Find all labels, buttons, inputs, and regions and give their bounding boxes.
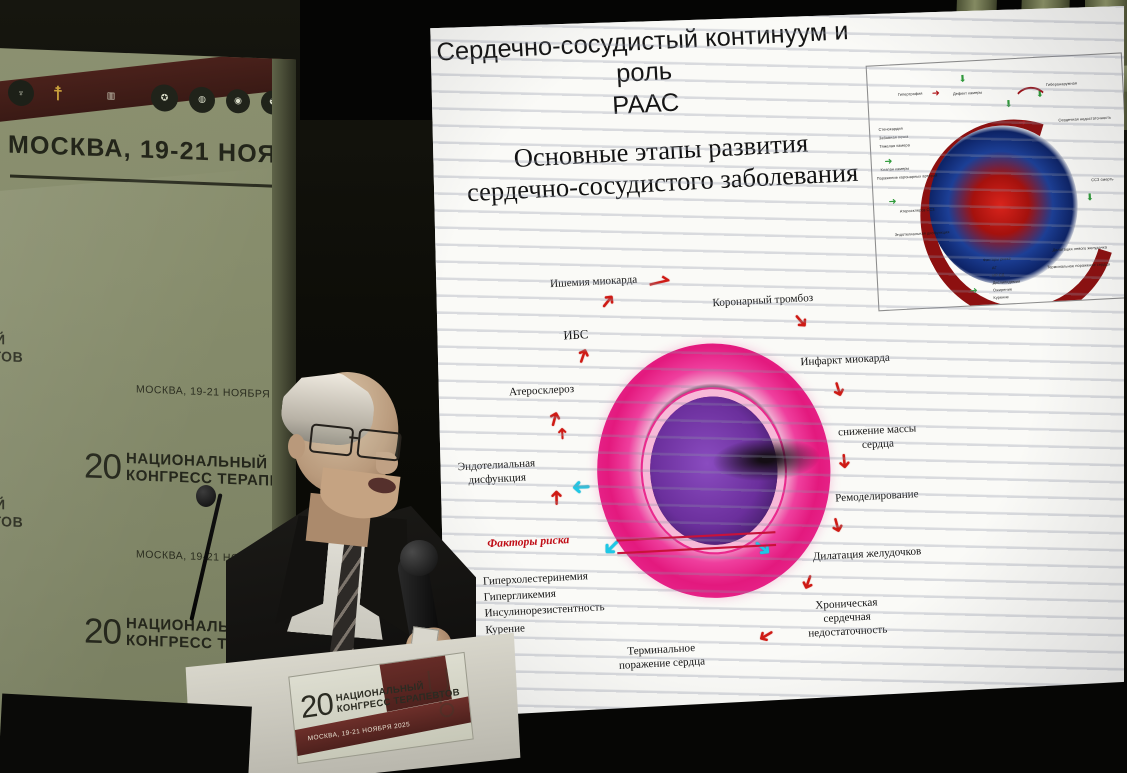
conference-photo-scene: ♆ ☨ ▥ ✪ ◍ ◉ ☯ МОСКВА, 19-21 НОЯБРЯ 2025 … [0,0,1127,773]
inset-green-arrow-6: ➜ [970,286,978,296]
inset-label-11: АГ [992,266,997,271]
vessel-lumen [646,393,781,548]
inset-label-12: ИР СД [992,273,1004,279]
label-chronic-heart-failure: Хроническаясердечнаянедостаточность [807,595,888,641]
gooseneck-microphone-head [196,485,216,507]
slide-surface: Сердечно-сосудистый континуум и роль РАА… [424,6,1124,748]
backdrop-city-date: МОСКВА, 19-21 НОЯБРЯ 2025 [8,130,296,174]
red-arrow-dilatation: ➜ [795,571,820,594]
inset-label-16: Сердечная недостаточность [1058,116,1111,124]
inset-green-arrow-5: ➜ [888,197,896,207]
red-arrow-ibs: ➜ [571,345,596,368]
inset-label-5: Тяжелая камера [879,143,910,150]
foreground-dark-area [0,694,252,773]
rnmot-logo: ♆ [8,79,34,106]
label-chronic-heart-failure-l1: Хроническая [815,597,878,612]
label-coronary-thrombosis: Коронарный тромбоз [712,291,813,310]
society-shield-logo: ✪ [151,84,178,112]
red-arrow-terminal: ➜ [753,622,778,648]
inset-green-arrow-4: ➜ [884,157,892,167]
risk-factor-0: Гиперхолестеринемия [483,571,589,588]
inset-label-14: Ожирение [993,287,1012,293]
label-myocardial-infarction: Инфаркт миокарда [800,351,890,370]
emblem-logo: ◉ [226,88,250,113]
inset-label-2: Гиберонаружная [1046,81,1077,88]
inset-green-arrow-7: ⬇ [1086,193,1094,203]
label-terminal-heart-damage: Терминальноепоражение сердца [618,641,705,673]
red-arrow-ishemia: ➜ [595,289,621,315]
slide-title-line2: РААС [612,88,680,120]
moscow-building-logo: ▥ [82,84,140,108]
label-chronic-heart-failure-l2: сердечная [823,611,871,625]
label-terminal-heart-damage-l2: поражение сердца [619,656,706,672]
vessel-lumen-shadow [712,436,820,484]
globe-logo: ◍ [189,86,215,113]
vessel-cross-section-image [591,338,837,604]
inset-label-0: Гипертрофия [898,91,923,97]
speaker-ear [288,434,305,459]
russia-coat-of-arms-logo: ☨ [45,80,71,107]
label-remodeling: Ремоделирование [835,488,919,506]
inset-label-4: Забовная почка [879,135,909,142]
inset-top-curve-arrow: ⌒ [1016,79,1046,120]
risk-factors-heading: Факторы риска [487,533,570,552]
label-chronic-heart-failure-l3: недостаточность [808,624,888,640]
inset-label-7: Клапан камеры [881,166,910,173]
inset-label-1: Дефект камеры [953,90,983,97]
inset-green-arrow-2: ⬇ [1004,99,1012,109]
inset-green-arrow-1: ⬇ [958,74,966,84]
label-ishemia: Ишемия миокарда [550,273,638,291]
red-arrow-thrombosis: ➜ [787,308,813,334]
label-ventricular-dilatation: Дилатация желудочков [812,545,921,565]
risk-factor-2: Инсулинорезистентность [484,602,605,620]
red-arrow-risk-up: ➜ [554,426,571,440]
red-arrow-mass: ➜ [833,452,855,471]
cyan-arrow-endothelial: ➜ [571,475,592,499]
cardiovascular-continuum-inset: Гипертрофия Дефект камеры Гиберонаружная… [866,52,1124,311]
slide-title: Сердечно-сосудистый континуум и роль РАА… [424,15,874,132]
inset-label-3: Стенокардия [878,126,903,132]
label-atherosclerosis: Атеросклероз [509,383,575,400]
red-arrow-endothelial: ➜ [547,489,567,506]
inset-label-15: Курение [993,295,1009,301]
label-heart-mass-reduction-l2: сердца [862,438,895,451]
red-arrow-infarction: ➜ [826,378,850,400]
slide-title-line1: Сердечно-сосудистый континуум и роль [436,17,849,89]
red-arrow-remodeling: ➜ [825,515,849,537]
label-heart-mass-reduction-l1: снижение массы [838,423,917,439]
risk-factors-list: ГиперхолестеринемияГипергликемияИнсулино… [483,568,606,639]
inset-red-arrow-1: ➜ [932,88,940,98]
projection-screen: Сердечно-сосудистый континуум и роль РАА… [424,6,1124,748]
inset-label-18: ССЗ смерть [1091,177,1114,183]
risk-factor-1: Гипергликемия [483,589,556,604]
label-ibs: ИБС [563,327,589,344]
label-terminal-heart-damage-l1: Терминальное [627,643,695,658]
slide-subtitle: Основные этапы развития сердечно-сосудис… [443,125,880,210]
podium-sign-number: 20 [299,686,335,726]
red-arrow-top: ⇀ [645,265,674,297]
label-heart-mass-reduction: снижение массысердца [838,422,918,454]
inset-red-arrow-2: ➜ [1018,118,1026,128]
